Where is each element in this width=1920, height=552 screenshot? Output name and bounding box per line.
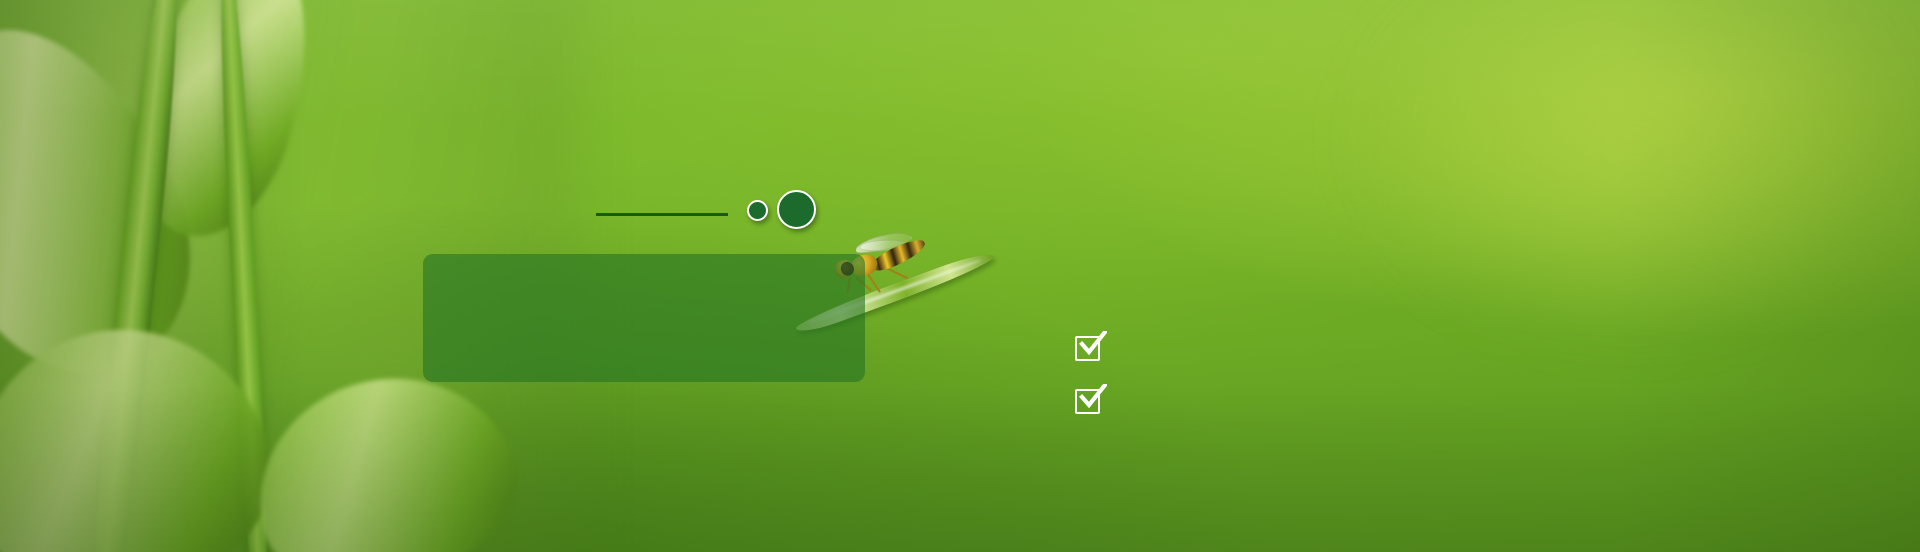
- selling-points-panel: [423, 254, 865, 382]
- credential-item: [1075, 389, 1113, 414]
- divider-rule: [596, 213, 728, 216]
- check-square-icon: [1075, 389, 1100, 414]
- credential-item: [1075, 336, 1113, 361]
- decor-dot-small: [747, 200, 768, 221]
- check-square-icon: [1075, 336, 1100, 361]
- credentials-list: [1075, 336, 1113, 414]
- decor-dot-large: [777, 190, 816, 229]
- promo-banner: [0, 0, 1920, 552]
